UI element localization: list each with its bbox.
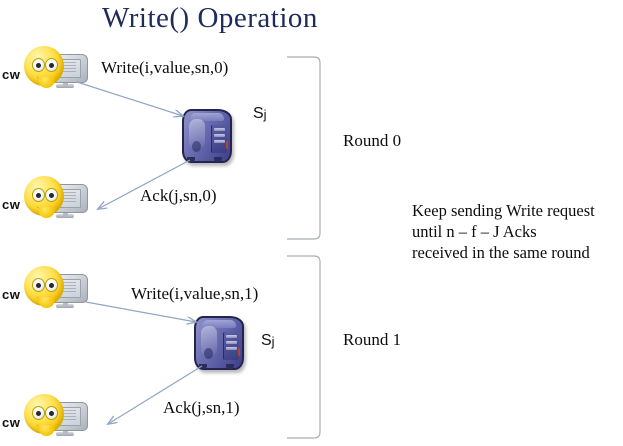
smiley-arm-icon <box>38 77 55 88</box>
message-label-ack-r0: Ack(j,sn,0) <box>140 186 216 206</box>
round-label-1: Round 1 <box>343 330 401 350</box>
page-title: Write() Operation <box>0 2 420 35</box>
bracket-round-0 <box>287 57 320 239</box>
bracket-round-1 <box>287 256 320 438</box>
client-label-r0-request: cw <box>2 67 20 82</box>
client-actor-r1-request <box>22 264 96 316</box>
round-label-0: Round 0 <box>343 131 401 151</box>
note-line-3: received in the same round <box>412 242 617 263</box>
diagram-canvas: Write() Operation cw Write(i,value,sn,0) <box>0 0 623 446</box>
client-label-r1-request: cw <box>2 287 20 302</box>
message-label-write-r1: Write(i,value,sn,1) <box>131 284 258 304</box>
client-label-r0-ack: cw <box>2 197 20 212</box>
smiley-eye-right-icon <box>45 58 58 72</box>
server-icon-r0 <box>178 105 234 165</box>
note-line-2: until n – f – J Acks <box>412 221 617 242</box>
client-actor-r0-ack <box>22 174 96 226</box>
explanatory-note: Keep sending Write request until n – f –… <box>412 200 617 263</box>
arrow-write-r1 <box>86 302 196 322</box>
server-label-r1: Sj <box>261 332 275 350</box>
server-icon-r1 <box>190 312 246 372</box>
message-label-ack-r1: Ack(j,sn,1) <box>163 398 239 418</box>
note-line-1: Keep sending Write request <box>412 200 617 221</box>
message-label-write-r0: Write(i,value,sn,0) <box>101 58 228 78</box>
server-label-r0: Sj <box>253 105 267 123</box>
client-label-r1-ack: cw <box>2 415 20 430</box>
smiley-eye-left-icon <box>32 58 45 72</box>
client-actor-r0-request <box>22 44 96 96</box>
client-actor-r1-ack <box>22 392 96 444</box>
